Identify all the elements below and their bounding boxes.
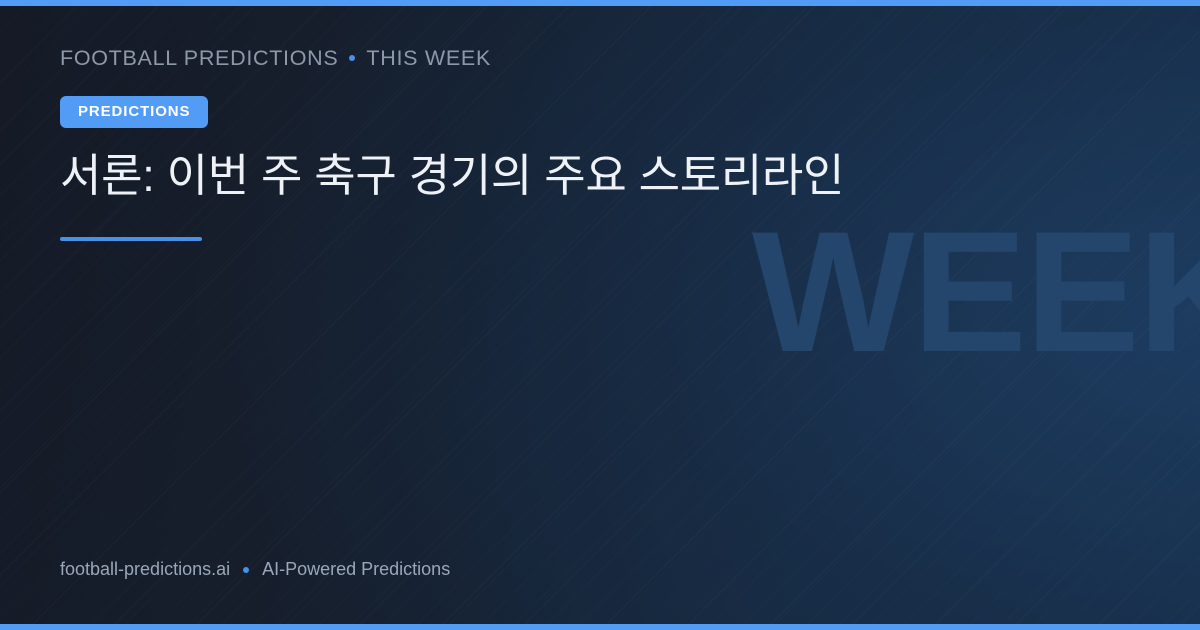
blue-dot-icon — [243, 567, 249, 573]
blue-dot-icon — [349, 55, 355, 61]
card-content: FOOTBALL PREDICTIONS THIS WEEK PREDICTIO… — [60, 44, 1150, 241]
eyebrow: FOOTBALL PREDICTIONS THIS WEEK — [60, 44, 1150, 72]
eyebrow-right-label: THIS WEEK — [366, 46, 491, 71]
footer-site-label: football-predictions.ai — [60, 559, 230, 580]
top-accent-bar — [0, 0, 1200, 6]
accent-underline — [60, 237, 202, 241]
footer: football-predictions.ai AI-Powered Predi… — [60, 559, 450, 580]
bottom-accent-bar — [0, 624, 1200, 630]
category-badge[interactable]: PREDICTIONS — [60, 96, 208, 128]
footer-tagline: AI-Powered Predictions — [262, 559, 450, 580]
share-card: WEEK FOOTBALL PREDICTIONS THIS WEEK PRED… — [0, 0, 1200, 630]
eyebrow-left-label: FOOTBALL PREDICTIONS — [60, 46, 338, 71]
page-title: 서론: 이번 주 축구 경기의 주요 스토리라인 — [60, 149, 1150, 204]
